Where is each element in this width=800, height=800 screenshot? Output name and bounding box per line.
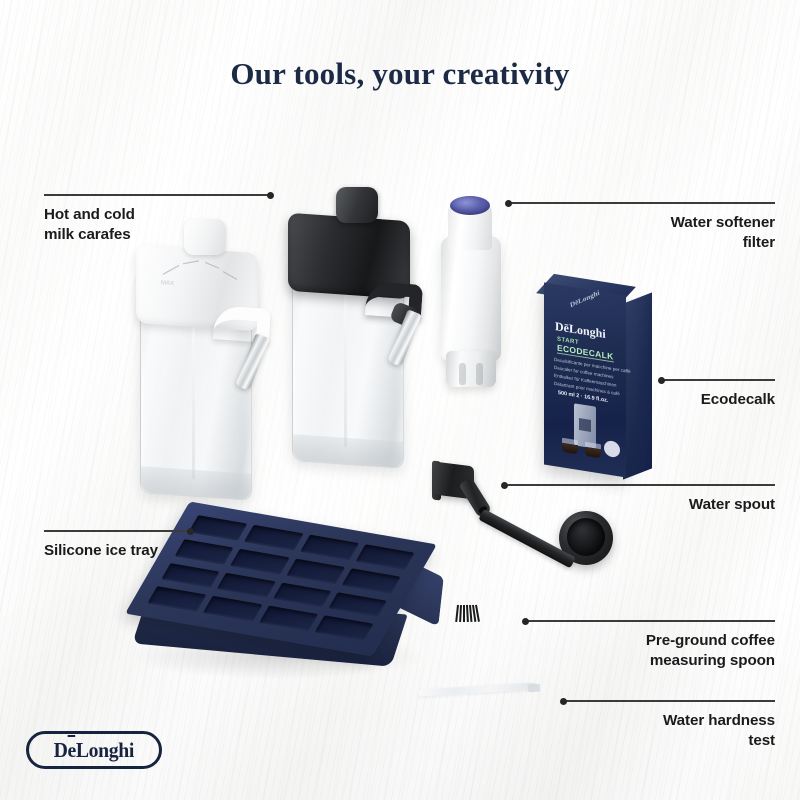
callout-dot: [658, 377, 665, 384]
tray-cube-cell: [328, 592, 387, 617]
callout-dot: [522, 618, 529, 625]
tray-cube-cell: [231, 549, 290, 574]
product-measuring-spoon: [455, 505, 625, 637]
box-side-panel: [623, 292, 652, 479]
tray-cube-cell: [161, 563, 220, 588]
callout-label-line: Ecodecalk: [660, 390, 775, 410]
callout-label-line: Water spout: [503, 495, 775, 515]
callout-dot: [560, 698, 567, 705]
carafe-dial-markings: MAX: [153, 254, 249, 293]
tray-cube-cell: [342, 568, 401, 593]
callout-label-line: Hot and cold: [44, 205, 272, 225]
callout-measuring-spoon: Pre-ground coffee measuring spoon: [524, 620, 775, 671]
product-white-milk-carafe: MAX: [140, 215, 275, 510]
callout-leader-line: [507, 202, 775, 204]
tray-cube-cell: [272, 582, 331, 607]
callout-leader-line: [524, 620, 775, 622]
callout-label: Water spout: [503, 495, 775, 515]
tray-cube-cell: [244, 525, 303, 550]
callout-leader-line: [562, 700, 775, 702]
tray-cube-cell: [259, 606, 318, 631]
callout-leader-line: [44, 530, 192, 532]
callout-label-line: Water hardness: [562, 711, 775, 731]
delonghi-wordmark: DeLonghi: [54, 738, 134, 763]
callout-water-softener-filter: Water softener filter: [507, 202, 775, 253]
filter-foot: [446, 351, 496, 387]
page-title: Our tools, your creativity: [0, 56, 800, 92]
carafe-spout-chrome-tube: [235, 333, 270, 391]
spoon-cleaning-brush: [457, 605, 483, 623]
callout-label-line: milk carafes: [44, 225, 272, 245]
product-ecodecalk-box: DēLonghi DēLonghi START ECODECALK Deca…: [530, 281, 658, 481]
tray-cube-cell: [314, 616, 373, 641]
carafe-knob: [184, 219, 226, 255]
callout-label: Pre-ground coffee measuring spoon: [524, 631, 775, 671]
callout-label-line: Water softener: [507, 213, 775, 233]
box-cup-illustration: [585, 442, 601, 459]
callout-label-line: test: [562, 731, 775, 751]
filter-blue-cap: [450, 196, 490, 215]
callout-milk-carafes: Hot and cold milk carafes: [44, 194, 272, 245]
product-water-hardness-test-strip: [418, 678, 540, 708]
callout-dot: [187, 528, 194, 535]
callout-dot: [505, 200, 512, 207]
callout-label-line: Silicone ice tray: [44, 541, 192, 561]
callout-label: Water hardness test: [562, 711, 775, 751]
carafe-base-band: [293, 434, 403, 468]
callout-label-line: Pre-ground coffee: [524, 631, 775, 651]
test-strip-tip: [528, 684, 540, 693]
callout-silicone-ice-tray: Silicone ice tray: [44, 530, 192, 561]
infographic-canvas: Our tools, your creativity MAX: [0, 0, 800, 800]
callout-dot: [501, 482, 508, 489]
box-cup-illustration: [562, 438, 578, 455]
callout-leader-line: [660, 379, 775, 381]
test-strip-body: [418, 682, 536, 696]
delonghi-logo: DeLonghi: [26, 731, 162, 769]
tray-cube-cell: [217, 572, 276, 597]
carafe-spout: [214, 307, 294, 397]
svg-text:MAX: MAX: [161, 280, 174, 287]
callout-leader-line: [503, 484, 775, 486]
callout-water-spout: Water spout: [503, 484, 775, 515]
logo-text-e: e: [68, 738, 76, 763]
product-black-milk-carafe: [292, 183, 432, 483]
carafe-base-band: [141, 466, 251, 500]
tray-cube-cell: [300, 535, 359, 560]
callout-dot: [267, 192, 274, 199]
logo-text-pre: D: [54, 738, 68, 762]
callout-leader-line: [44, 194, 272, 196]
callout-label: Water softener filter: [507, 213, 775, 253]
callout-label: Hot and cold milk carafes: [44, 205, 272, 245]
tray-cube-cell: [189, 515, 248, 540]
carafe-spout: [366, 283, 452, 379]
callout-ecodecalk: Ecodecalk: [660, 379, 775, 410]
callout-label-line: filter: [507, 233, 775, 253]
carafe-knob: [336, 187, 378, 223]
tray-cube-cell: [356, 544, 415, 569]
logo-text-post: Longhi: [76, 738, 134, 762]
tray-cube-cell: [147, 586, 206, 611]
callout-label: Silicone ice tray: [44, 541, 192, 561]
tray-cube-cell: [286, 558, 345, 583]
tray-cube-cell: [203, 596, 262, 621]
callout-label-line: measuring spoon: [524, 651, 775, 671]
callout-water-hardness-test: Water hardness test: [562, 700, 775, 751]
callout-label: Ecodecalk: [660, 390, 775, 410]
